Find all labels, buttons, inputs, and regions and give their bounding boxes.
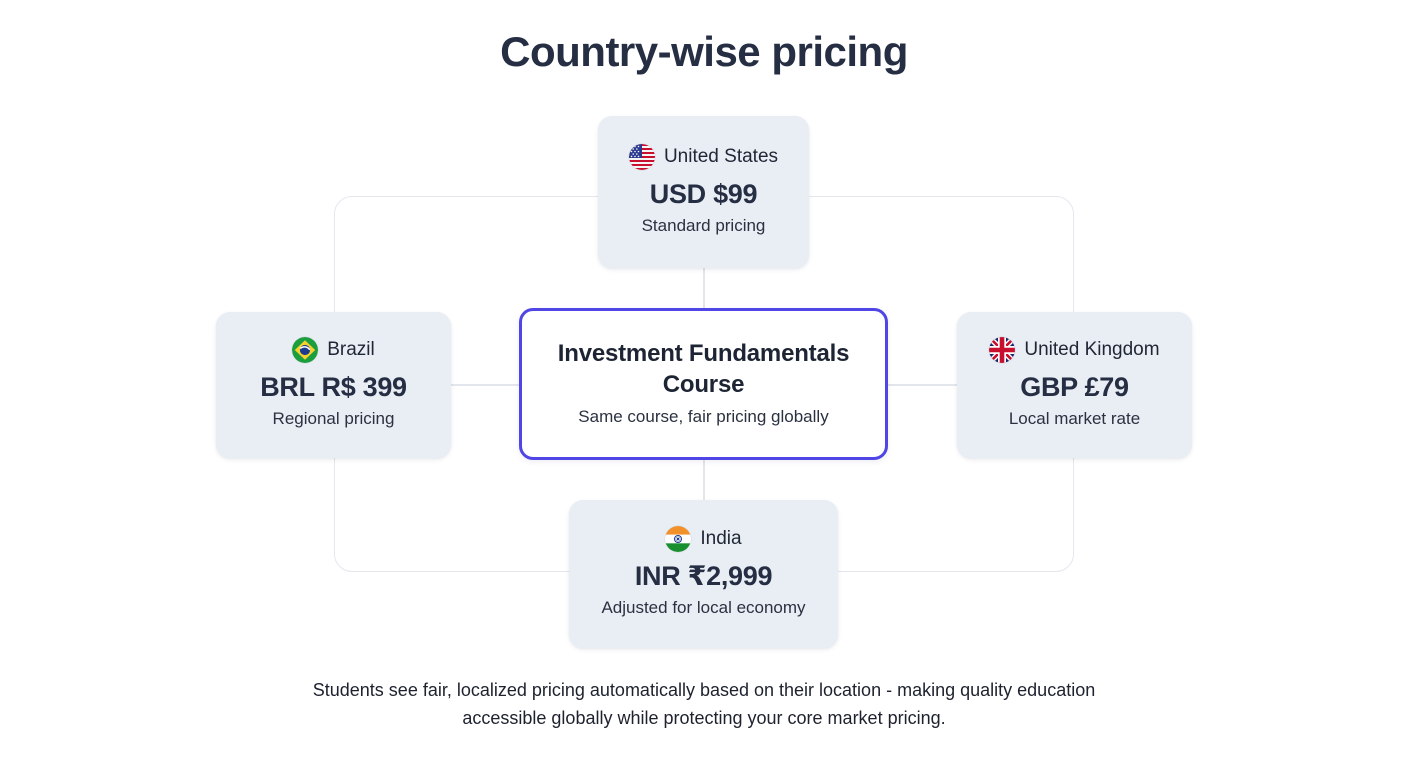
card-header: India bbox=[665, 526, 741, 552]
price-note: Standard pricing bbox=[642, 215, 766, 238]
price-value: INR ₹2,999 bbox=[635, 558, 772, 594]
caption-line-1: Students see fair, localized pricing aut… bbox=[313, 680, 1012, 700]
footer-caption: Students see fair, localized pricing aut… bbox=[304, 676, 1104, 732]
flag-united-states-icon bbox=[629, 144, 655, 170]
price-value: GBP £79 bbox=[1020, 369, 1128, 405]
pricing-card-india[interactable]: India INR ₹2,999 Adjusted for local econ… bbox=[569, 500, 838, 648]
price-note: Local market rate bbox=[1009, 408, 1140, 431]
pricing-card-united-states[interactable]: United States USD $99 Standard pricing bbox=[598, 116, 809, 268]
country-label: Brazil bbox=[327, 339, 375, 362]
country-label: United Kingdom bbox=[1024, 339, 1159, 362]
course-title: Investment Fundamentals Course bbox=[540, 339, 867, 400]
card-header: United Kingdom bbox=[989, 337, 1159, 363]
pricing-card-united-kingdom[interactable]: United Kingdom GBP £79 Local market rate bbox=[957, 312, 1192, 458]
country-label: India bbox=[700, 528, 741, 551]
flag-india-icon bbox=[665, 526, 691, 552]
card-header: United States bbox=[629, 144, 778, 170]
course-card-center[interactable]: Investment Fundamentals Course Same cour… bbox=[519, 308, 888, 460]
flag-brazil-icon bbox=[292, 337, 318, 363]
course-subtitle: Same course, fair pricing globally bbox=[578, 406, 828, 429]
page-title: Country-wise pricing bbox=[0, 26, 1408, 79]
flag-united-kingdom-icon bbox=[989, 337, 1015, 363]
card-header: Brazil bbox=[292, 337, 375, 363]
price-value: USD $99 bbox=[650, 176, 757, 212]
pricing-diagram-page: Country-wise pricing bbox=[0, 0, 1408, 768]
country-label: United States bbox=[664, 146, 778, 169]
price-note: Regional pricing bbox=[273, 408, 395, 431]
pricing-card-brazil[interactable]: Brazil BRL R$ 399 Regional pricing bbox=[216, 312, 451, 458]
price-value: BRL R$ 399 bbox=[260, 369, 407, 405]
price-note: Adjusted for local economy bbox=[601, 597, 805, 620]
